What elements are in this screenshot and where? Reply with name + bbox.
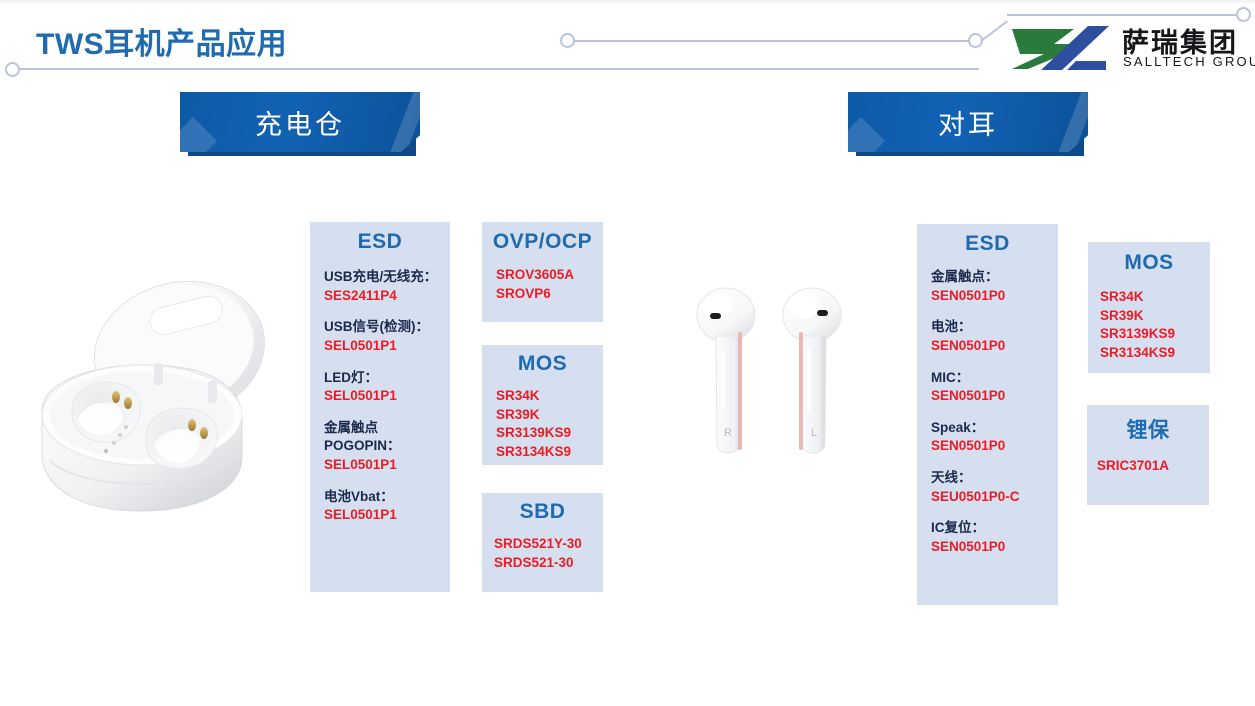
card-bud-mos[interactable]: MOS SR34K SR39K SR3139KS9 SR3134KS9 (1088, 242, 1210, 373)
card-title: SBD (482, 500, 603, 524)
header-line-mid (574, 40, 974, 42)
card-title: MOS (1088, 251, 1210, 275)
spec-group: LED灯： SEL0501P1 (324, 369, 450, 406)
spec-label: 金属触点 POGOPIN： (324, 419, 450, 456)
section-banner-label: 充电仓 (180, 92, 420, 152)
salltech-logo-mark (1010, 23, 1114, 73)
spec-part: SEN0501P0 (931, 387, 1058, 406)
section-banner-label: 对耳 (848, 92, 1088, 152)
spec-label: 电池： (931, 318, 1058, 337)
section-banner-charging-case[interactable]: 充电仓 (180, 92, 428, 166)
header-line-lower (19, 68, 979, 70)
spec-label: 电池Vbat： (324, 488, 450, 507)
spec-group: 电池： SEN0501P0 (931, 318, 1058, 355)
header-diagonal-connector (980, 20, 1008, 41)
card-body: SROV3605A SROVP6 (496, 266, 603, 303)
spec-group: 电池Vbat： SEL0501P1 (324, 488, 450, 525)
spec-label: LED灯： (324, 369, 450, 388)
spec-label: 金属触点： (931, 268, 1058, 287)
spec-part: SEN0501P0 (931, 287, 1058, 306)
spec-label: Speak： (931, 419, 1058, 438)
spec-group: 天线： SEU0501P0-C (931, 469, 1058, 506)
card-body: USB充电/无线充： SES2411P4 USB信号(检测)： SEL0501P… (324, 268, 450, 525)
spec-group: USB信号(检测)： SEL0501P1 (324, 318, 450, 355)
spec-part: SEL0501P1 (324, 337, 450, 356)
spec-part: SR39K (496, 406, 603, 425)
earbud-right-label: R (724, 427, 732, 439)
card-case-mos[interactable]: MOS SR34K SR39K SR3139KS9 SR3134KS9 (482, 345, 603, 465)
spec-label: MIC： (931, 369, 1058, 388)
card-body: 金属触点： SEN0501P0 电池： SEN0501P0 MIC： SEN05… (931, 268, 1058, 557)
spec-part: SRDS521Y-30 (494, 535, 603, 554)
spec-part: SR3139KS9 (496, 424, 603, 443)
header-node-mid-left (560, 33, 575, 48)
spec-part: SRDS521-30 (494, 554, 603, 573)
spec-group: MIC： SEN0501P0 (931, 369, 1058, 406)
charging-case-image (28, 243, 296, 543)
spec-part: SEN0501P0 (931, 437, 1058, 456)
spec-part: SR3139KS9 (1100, 325, 1210, 344)
earbud-left: L (783, 288, 841, 453)
card-title: 锂保 (1087, 414, 1209, 444)
earbud-left-label: L (811, 427, 817, 439)
spec-part: SEN0501P0 (931, 337, 1058, 356)
logo-name-en: SALLTECH GROUP (1123, 54, 1255, 69)
card-title: OVP/OCP (482, 230, 603, 254)
header-top-rule (0, 0, 1255, 3)
card-body: SRDS521Y-30 SRDS521-30 (494, 535, 603, 572)
spec-label: IC复位： (931, 519, 1058, 538)
card-case-ovp-ocp[interactable]: OVP/OCP SROV3605A SROVP6 (482, 222, 603, 322)
spec-part: SEL0501P1 (324, 506, 450, 525)
earbuds-pair-image: R L (680, 272, 860, 462)
spec-part: SR3134KS9 (496, 443, 603, 462)
spec-part: SROVP6 (496, 285, 603, 304)
spec-group: Speak： SEN0501P0 (931, 419, 1058, 456)
spec-group: 金属触点 POGOPIN： SEL0501P1 (324, 419, 450, 475)
spec-part: SEN0501P0 (931, 538, 1058, 557)
spec-part: SEL0501P1 (324, 456, 450, 475)
card-case-sbd[interactable]: SBD SRDS521Y-30 SRDS521-30 (482, 493, 603, 592)
spec-part: SROV3605A (496, 266, 603, 285)
spec-part: SEU0501P0-C (931, 488, 1058, 507)
spec-label: 天线： (931, 469, 1058, 488)
spec-part: SR39K (1100, 307, 1210, 326)
spec-group: USB充电/无线充： SES2411P4 (324, 268, 450, 305)
card-title: MOS (482, 352, 603, 376)
spec-part: SR3134KS9 (1100, 344, 1210, 363)
card-body: SRIC3701A (1097, 457, 1209, 476)
spec-part: SR34K (1100, 288, 1210, 307)
earbud-right: R (697, 288, 755, 453)
spec-label: USB信号(检测)： (324, 318, 450, 337)
card-case-esd[interactable]: ESD USB充电/无线充： SES2411P4 USB信号(检测)： SEL0… (310, 222, 450, 592)
card-body: SR34K SR39K SR3139KS9 SR3134KS9 (1100, 288, 1210, 363)
page-title: TWS耳机产品应用 (36, 19, 287, 63)
spec-group: 金属触点： SEN0501P0 (931, 268, 1058, 305)
spec-part: SRIC3701A (1097, 457, 1209, 476)
header-line-upper (1007, 14, 1237, 16)
card-bud-lithium-protection[interactable]: 锂保 SRIC3701A (1087, 405, 1209, 505)
slide-canvas: TWS耳机产品应用 萨瑞集团 SALLTECH GROUP 充电仓 对耳 (0, 0, 1255, 706)
spec-part: SES2411P4 (324, 287, 450, 306)
section-banner-earbuds[interactable]: 对耳 (848, 92, 1096, 166)
header-node-left (5, 62, 20, 77)
company-logo: 萨瑞集团 SALLTECH GROUP (1010, 20, 1242, 76)
spec-part: SEL0501P1 (324, 387, 450, 406)
spec-part: SR34K (496, 387, 603, 406)
card-bud-esd[interactable]: ESD 金属触点： SEN0501P0 电池： SEN0501P0 MIC： S… (917, 224, 1058, 605)
card-title: ESD (310, 230, 450, 254)
card-body: SR34K SR39K SR3139KS9 SR3134KS9 (496, 387, 603, 462)
card-title: ESD (917, 232, 1058, 256)
spec-group: IC复位： SEN0501P0 (931, 519, 1058, 556)
spec-label: USB充电/无线充： (324, 268, 450, 287)
